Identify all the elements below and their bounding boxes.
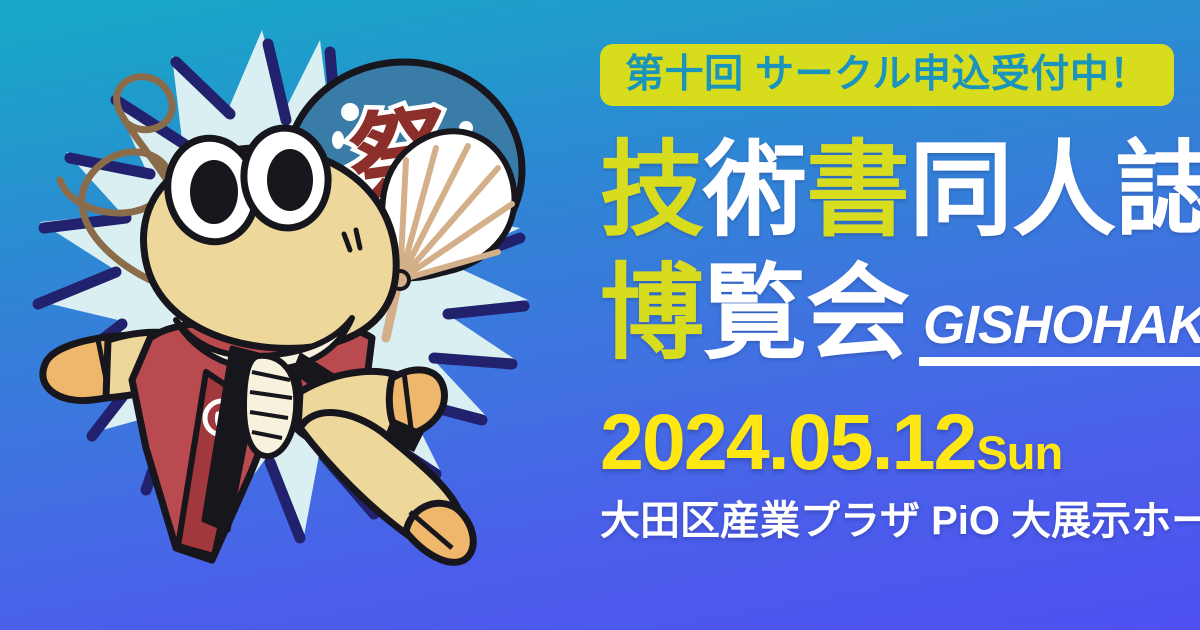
title-char-3: 書 [806,139,909,243]
title-char-2: 術 [703,139,806,243]
title-char-1: 技 [600,139,703,243]
event-venue: 大田区産業プラザ PiO 大展示ホール [600,496,1200,546]
title-char-5: 人 [1012,139,1115,243]
event-banner: 祭 [0,0,1200,630]
title-char-7: 博 [600,262,703,366]
event-romaji: GISHOHAKU [923,298,1200,352]
mascot-artwork: 祭 [0,0,600,630]
title-char-8: 覧 [703,262,806,366]
title-char-6: 誌 [1115,139,1200,243]
event-title-line1: 技 術 書 同 人 誌 [600,136,1200,246]
title-char-4: 同 [909,139,1012,243]
romaji-wrapper: GISHOHAKU [923,298,1200,366]
event-date: 2024.05.12 Sun [600,402,1062,481]
event-date-value: 2024.05.12 [600,402,975,481]
announcement-badge: 第十回 サークル申込受付中！ [600,44,1174,106]
announcement-badge-label: 第十回 サークル申込受付中！ [625,55,1149,94]
romaji-underline [919,357,1200,366]
event-title-line2: 博 覧 会 GISHOHAKU [600,256,1200,366]
banner-text-block: 第十回 サークル申込受付中！ 技 術 書 同 人 誌 博 覧 会 GISHOHA… [592,0,1200,630]
title-char-9: 会 [806,262,909,366]
mascot-legs [298,370,473,562]
event-day-of-week: Sun [976,429,1062,476]
